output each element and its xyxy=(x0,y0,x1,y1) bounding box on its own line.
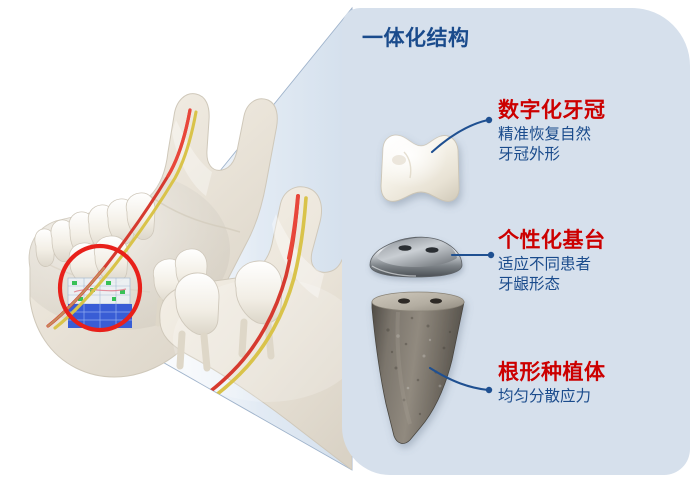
label-desc-crown-line-2: 牙冠外形 xyxy=(498,145,606,165)
abutment-screw-hole-2 xyxy=(426,247,439,253)
label-title-abutment: 个性化基台 xyxy=(498,230,606,252)
label-block-crown: 数字化牙冠 精准恢复自然 牙冠外形 xyxy=(498,100,606,165)
label-title-crown: 数字化牙冠 xyxy=(498,100,606,122)
label-desc-crown-line-1: 精准恢复自然 xyxy=(498,125,606,145)
root-form-implant-graphic xyxy=(372,292,464,443)
implant-screw-hole-2 xyxy=(430,298,442,303)
connector-dot-abutment xyxy=(488,252,494,258)
infographic-canvas: 一体化结构 xyxy=(0,0,693,493)
label-block-abutment: 个性化基台 适应不同患者 牙龈形态 xyxy=(498,230,606,295)
label-desc-abutment-line-1: 适应不同患者 xyxy=(498,255,606,275)
connector-dot-crown xyxy=(486,117,492,123)
connector-dot-implant xyxy=(486,387,492,393)
personalized-abutment-graphic xyxy=(370,237,462,277)
label-desc-abutment: 适应不同患者 牙龈形态 xyxy=(498,255,606,295)
label-desc-crown: 精准恢复自然 牙冠外形 xyxy=(498,125,606,165)
label-desc-implant: 均匀分散应力 xyxy=(498,387,606,407)
label-title-implant: 根形种植体 xyxy=(498,362,606,384)
implant-screw-hole-1 xyxy=(398,298,410,303)
abutment-screw-hole-1 xyxy=(399,245,412,251)
digital-crown-graphic xyxy=(381,135,459,201)
label-desc-abutment-line-2: 牙龈形态 xyxy=(498,275,606,295)
label-block-implant: 根形种植体 均匀分散应力 xyxy=(498,362,606,407)
label-desc-implant-line-1: 均匀分散应力 xyxy=(498,387,606,407)
